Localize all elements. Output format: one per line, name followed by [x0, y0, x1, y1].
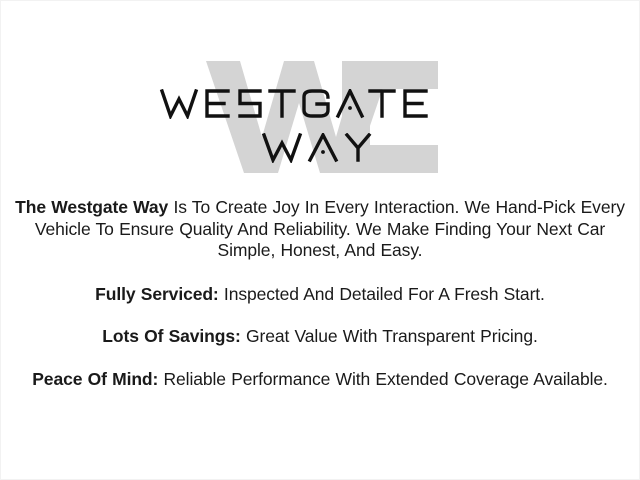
spacer-after-feature-1: [13, 305, 627, 326]
marketing-copy: The Westgate Way Is To Create Joy In Eve…: [1, 197, 639, 390]
feature-body: Great Value With Transparent Pricing.: [241, 326, 538, 346]
intro-paragraph: The Westgate Way Is To Create Joy In Eve…: [13, 197, 627, 262]
spacer-after-intro: [13, 262, 627, 284]
feature-body: Reliable Performance With Extended Cover…: [158, 369, 608, 389]
brand-wordmark-westgate: [1, 89, 639, 119]
feature-lead: Fully Serviced:: [95, 284, 219, 304]
spacer-after-feature-2: [13, 348, 627, 369]
feature-lead: Peace Of Mind:: [32, 369, 158, 389]
intro-lead: The Westgate Way: [15, 197, 168, 217]
feature-body: Inspected And Detailed For A Fresh Start…: [219, 284, 545, 304]
feature-peace-of-mind: Peace Of Mind: Reliable Performance With…: [13, 369, 627, 391]
feature-lots-of-savings: Lots Of Savings: Great Value With Transp…: [13, 326, 627, 348]
feature-lead: Lots Of Savings:: [102, 326, 240, 346]
brand-logo-block: [1, 1, 639, 181]
westgate-way-info-card: The Westgate Way Is To Create Joy In Eve…: [0, 0, 640, 480]
feature-fully-serviced: Fully Serviced: Inspected And Detailed F…: [13, 284, 627, 306]
brand-wordmark-way: [1, 133, 639, 163]
